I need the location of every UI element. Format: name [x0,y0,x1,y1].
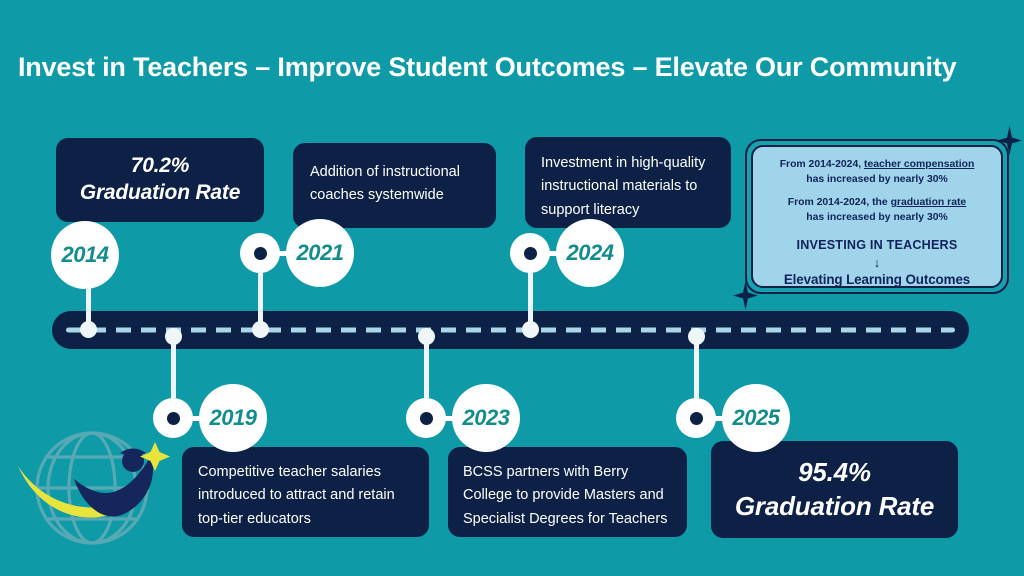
milestone-card-2024: Investment in high-quality instructional… [525,137,731,228]
connector-dot-2019 [153,398,193,438]
year-bubble-2019[interactable]: 2019 [199,384,267,452]
summary-info-panel: From 2014-2024, teacher compensation has… [751,145,1003,288]
year-bubble-2021[interactable]: 2021 [286,219,354,287]
milestone-card-2014: 70.2% Graduation Rate [56,138,264,222]
connector-stem-2021 [258,268,263,322]
milestone-text-2023: BCSS partners with Berry College to prov… [463,461,672,531]
milestone-text-2024: Investment in high-quality instructional… [541,152,715,222]
milestone-text-2019: Competitive teacher salaries introduced … [198,461,413,531]
connector-dot-2021 [240,233,280,273]
summary-info-box: From 2014-2024, teacher compensation has… [745,139,1009,294]
milestone-card-2019: Competitive teacher salaries introduced … [182,447,429,537]
milestone-card-2023: BCSS partners with Berry College to prov… [448,447,687,537]
info-fact-1-suffix: has increased by nearly 30% [806,174,948,185]
timeline-dashed-line [66,328,955,333]
year-bubble-2023[interactable]: 2023 [452,384,520,452]
milestone-text-2021: Addition of instructional coaches system… [310,161,479,208]
timeline-node-2025 [688,328,705,345]
year-bubble-2024[interactable]: 2024 [556,219,624,287]
timeline-bar [52,311,969,349]
infographic-canvas: Invest in Teachers – Improve Student Out… [0,0,1024,576]
connector-stem-2024 [528,268,533,322]
connector-stem-2025 [694,336,699,398]
info-fact-2-underline: graduation rate [891,197,967,208]
info-fact-2: From 2014-2024, the graduation rate has … [761,196,993,225]
timeline-node-2023 [418,328,435,345]
timeline-node-2021 [252,321,269,338]
info-fact-1-prefix: From 2014-2024, [780,159,864,170]
info-fact-2-prefix: From 2014-2024, the [788,197,891,208]
timeline-node-2024 [522,321,539,338]
info-spacer [761,187,993,196]
info-headline: INVESTING IN TEACHERS [761,237,993,255]
timeline-node-2014 [80,321,97,338]
info-fact-2-suffix: has increased by nearly 30% [806,212,948,223]
year-bubble-2025[interactable]: 2025 [722,384,790,452]
stat-label-2014: Graduation Rate [80,180,240,207]
timeline-node-2019 [165,328,182,345]
info-footer: Elevating Learning Outcomes [761,271,993,290]
stat-value-2014: 70.2% [80,153,240,180]
globe-graduate-logo [10,416,200,568]
milestone-card-2021: Addition of instructional coaches system… [293,143,496,228]
info-fact-1: From 2014-2024, teacher compensation has… [761,158,993,187]
connector-dot-2023 [406,398,446,438]
down-arrow-icon: ↓ [761,256,993,270]
connector-dot-2025 [676,398,716,438]
milestone-card-2025: 95.4% Graduation Rate [711,441,958,538]
stat-value-2025: 95.4% [735,456,934,490]
stat-label-2025: Graduation Rate [735,490,934,524]
connector-stem-2023 [424,336,429,398]
year-bubble-2014[interactable]: 2014 [51,221,119,289]
page-title: Invest in Teachers – Improve Student Out… [18,52,1018,83]
connector-stem-2019 [171,336,176,398]
connector-dot-2024 [510,233,550,273]
info-fact-1-underline: teacher compensation [864,159,974,170]
